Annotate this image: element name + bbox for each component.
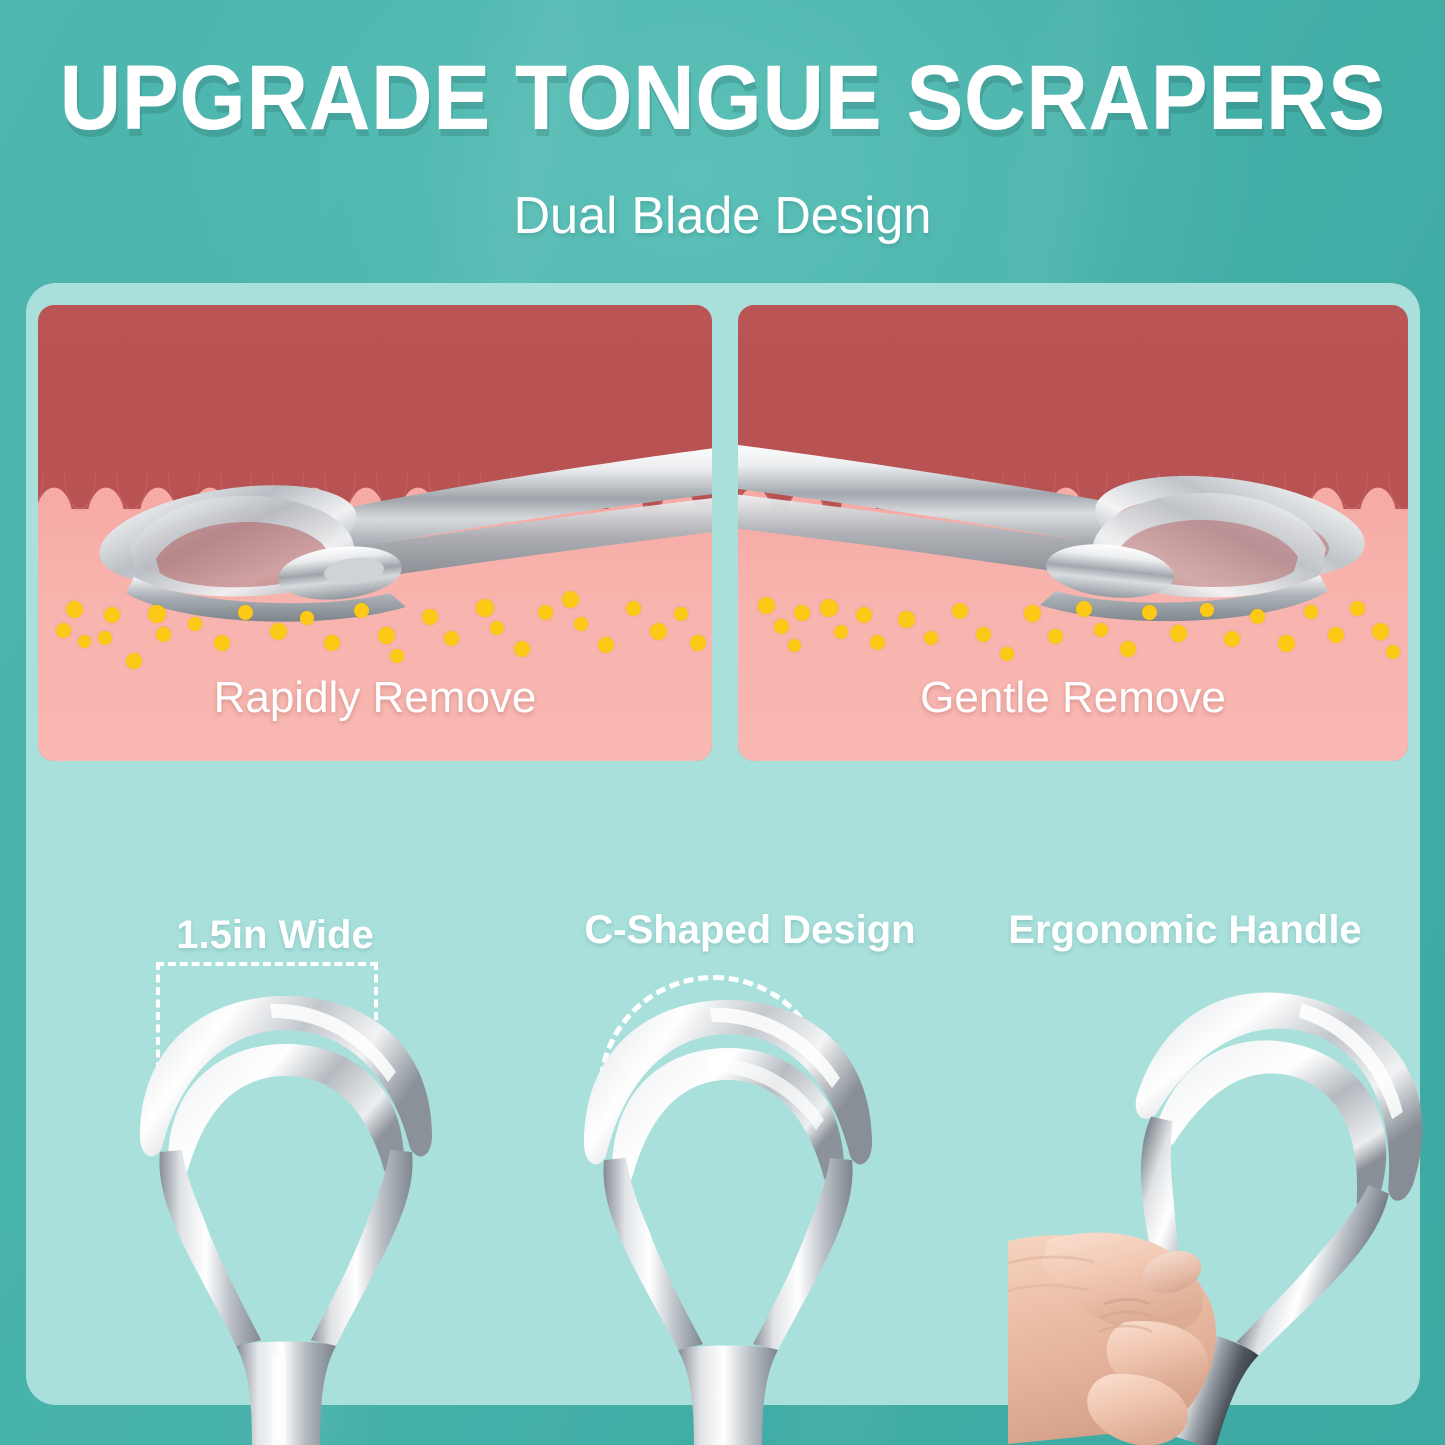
comparison-panel-rapidly-remove: Rapidly Remove	[38, 305, 712, 761]
bacteria-dot	[1094, 623, 1108, 637]
bacteria-dot	[148, 605, 166, 623]
bacteria-dot	[66, 601, 83, 618]
bacteria-dot	[1024, 605, 1041, 622]
bacteria-dot	[788, 639, 801, 652]
bacteria-dot	[674, 607, 688, 621]
bacteria-dot	[422, 609, 438, 625]
bacteria-dot	[820, 599, 838, 617]
feature-label-width: 1.5in Wide	[60, 913, 490, 958]
bacteria-dot	[354, 603, 369, 618]
bacteria-dot	[98, 631, 112, 645]
bacteria-dot	[870, 635, 885, 650]
bacteria-dot	[794, 605, 810, 621]
panel-caption: Gentle Remove	[738, 673, 1408, 723]
bacteria-dot	[188, 617, 202, 631]
page-title: UPGRADE TONGUE SCRAPERS	[51, 52, 1395, 144]
bacteria-dot	[924, 631, 938, 645]
bacteria-dot	[1304, 605, 1318, 619]
scraper-head-front-view	[120, 968, 450, 1445]
bacteria-dot	[1000, 647, 1014, 661]
bacteria-dot	[650, 623, 667, 640]
bacteria-dot	[952, 603, 968, 619]
product-infographic: UPGRADE TONGUE SCRAPERS Dual Blade Desig…	[0, 0, 1445, 1445]
bacteria-dot	[1142, 605, 1157, 620]
bacteria-dot	[476, 599, 494, 617]
bacteria-dot	[898, 611, 915, 628]
bacteria-dot	[976, 627, 991, 642]
scraper-head-c-curve	[560, 980, 890, 1445]
bacteria-dot	[390, 649, 404, 663]
bacteria-dot	[1200, 603, 1214, 617]
bacteria-dot	[214, 635, 230, 651]
page-subtitle: Dual Blade Design	[22, 190, 1424, 242]
bacteria-dot	[1250, 609, 1265, 624]
bacteria-dot	[126, 653, 142, 669]
bacteria-dot	[834, 625, 848, 639]
bacteria-dot	[758, 597, 775, 614]
bacteria-dot	[104, 607, 120, 623]
bacteria-dot	[324, 635, 340, 651]
bacteria-dot	[1076, 601, 1092, 617]
comparison-panel-gentle-remove: Gentle Remove	[738, 305, 1408, 761]
bacteria-dot	[156, 627, 171, 642]
bacteria-dot	[690, 635, 706, 651]
bacteria-dot	[270, 623, 287, 640]
bacteria-dot	[562, 591, 579, 608]
bacteria-dot	[598, 637, 614, 653]
bacteria-dot	[490, 621, 504, 635]
hand-gripping-handle	[1008, 1222, 1438, 1445]
bacteria-dot	[78, 635, 91, 648]
bacteria-dot	[56, 623, 71, 638]
bacteria-dot	[300, 611, 314, 625]
bacteria-dot	[1278, 635, 1295, 652]
bacteria-dot	[1372, 623, 1389, 640]
bacteria-dot	[1328, 627, 1344, 643]
bacteria-dot	[1170, 625, 1187, 642]
bacteria-dot	[1224, 631, 1240, 647]
bacteria-dot	[1048, 629, 1063, 644]
bacteria-dot	[238, 605, 253, 620]
panel-caption: Rapidly Remove	[38, 673, 712, 723]
bacteria-dot	[1120, 641, 1136, 657]
bacteria-dot	[856, 607, 872, 623]
bacteria-dot	[444, 631, 459, 646]
bacteria-dot	[1350, 601, 1365, 616]
bacteria-dot	[774, 619, 789, 634]
bacteria-dot	[1386, 645, 1400, 659]
bacteria-dot	[626, 601, 641, 616]
bacteria-dot	[514, 641, 530, 657]
bacteria-dot	[574, 617, 588, 631]
bacteria-dot	[538, 605, 553, 620]
bacteria-dot	[378, 627, 395, 644]
